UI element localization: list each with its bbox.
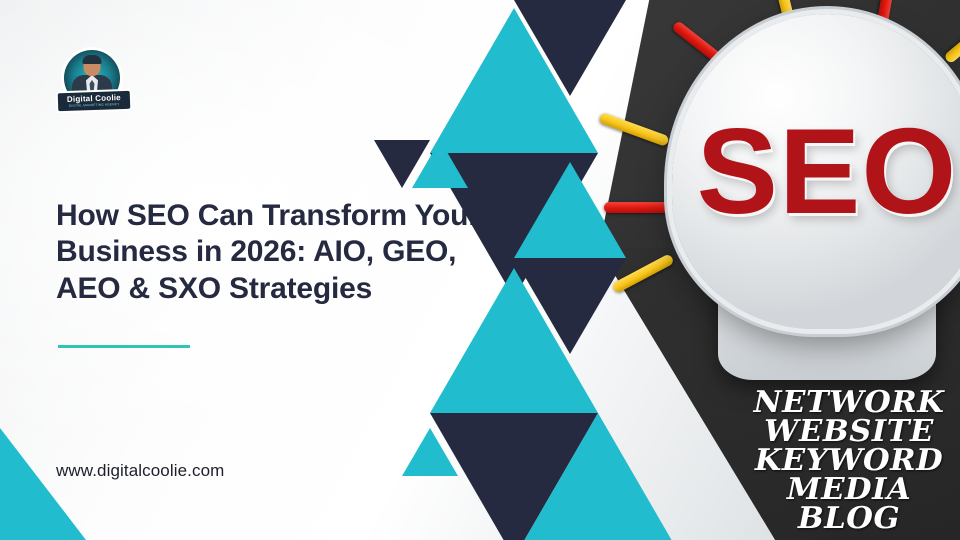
logo-person-hair xyxy=(83,55,102,64)
seo-lightbulb-graphic: SEO xyxy=(672,14,960,404)
triangle-teal-small-low xyxy=(402,428,458,476)
keyword-item-network: NETWORK xyxy=(740,388,958,417)
title-underline-rule xyxy=(58,345,190,348)
keyword-item-media: MEDIA xyxy=(740,475,958,504)
seo-blog-banner: SEO NETWORK WEBSITE KEYWORD MEDIA BLOG D… xyxy=(0,0,960,540)
site-url: www.digitalcoolie.com xyxy=(56,461,224,481)
keyword-item-keyword: KEYWORD xyxy=(740,446,958,475)
triangle-teal-small-left xyxy=(412,140,468,188)
digital-coolie-logo[interactable]: Digital Coolie DIGITAL MARKETING AGENCY xyxy=(56,50,128,118)
logo-tagline: DIGITAL MARKETING AGENCY xyxy=(69,103,120,108)
triangle-teal-bottom xyxy=(514,413,682,540)
ray-red-top-left xyxy=(671,20,727,67)
keyword-list: NETWORK WEBSITE KEYWORD MEDIA BLOG xyxy=(742,388,956,533)
ray-yellow-top-right xyxy=(943,19,960,65)
keyword-item-blog: BLOG xyxy=(740,504,958,533)
logo-ribbon: Digital Coolie DIGITAL MARKETING AGENCY xyxy=(56,89,133,114)
bulb-seo-label: SEO xyxy=(672,110,960,232)
ray-red-left xyxy=(604,202,670,213)
page-title: How SEO Can Transform Your Business in 2… xyxy=(56,198,486,307)
keyword-item-website: WEBSITE xyxy=(740,417,958,446)
triangle-navy-top-edge xyxy=(514,0,626,96)
